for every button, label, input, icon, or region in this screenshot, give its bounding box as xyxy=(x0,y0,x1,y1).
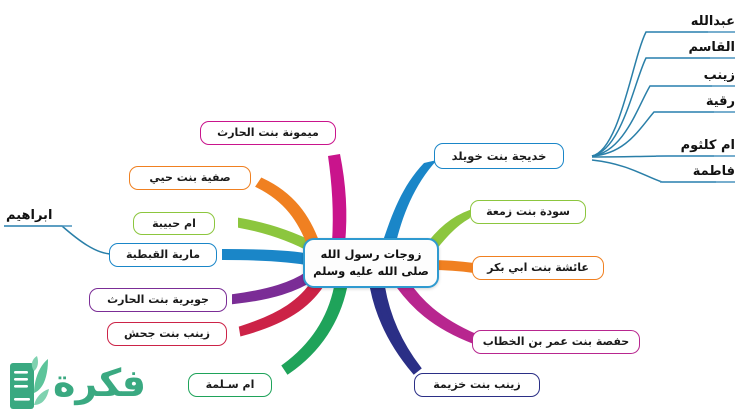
node-maria-label: مارية القبطية xyxy=(126,248,200,262)
node-juwayriya[interactable]: جويرية بنت الحارث xyxy=(89,288,227,312)
node-juwayriya-label: جويرية بنت الحارث xyxy=(107,293,209,307)
branch-ribbon-hafsa xyxy=(398,282,476,342)
node-um-salama-label: ام سـلمة xyxy=(206,378,255,392)
branch-ribbon-um-salama xyxy=(284,287,345,372)
leaf-alqasim[interactable]: القاسم xyxy=(688,40,735,56)
leaf-zainab-label: زينب xyxy=(704,68,735,83)
node-aisha-label: عائشة بنت ابي بكر xyxy=(487,261,589,275)
mindmap-canvas: زوجات رسول الله صلى الله عليه وسلم خديجة… xyxy=(0,0,739,415)
node-maria[interactable]: مارية القبطية xyxy=(109,243,217,267)
center-node-line2: صلى الله عليه وسلم xyxy=(313,263,429,280)
branch-ribbon-maria xyxy=(224,251,312,264)
leaf-fatima[interactable]: فاطمة xyxy=(693,164,735,180)
node-sawda[interactable]: سودة بنت زمعة xyxy=(470,200,586,224)
node-khadija-label: خديجة بنت خويلد xyxy=(452,149,547,163)
node-um-habiba[interactable]: ام حبيبة xyxy=(133,212,215,235)
leaf-abdullah-label: عبدالله xyxy=(691,14,735,29)
watermark-text: فكرة xyxy=(53,364,146,402)
node-hafsa[interactable]: حفصة بنت عمر بن الخطاب xyxy=(472,330,640,354)
node-hafsa-label: حفصة بنت عمر بن الخطاب xyxy=(483,335,629,349)
leaf-um-kulthum-label: ام كلثوم xyxy=(681,138,735,153)
node-safiyya[interactable]: صفية بنت حيي xyxy=(129,166,251,190)
leaf-abdullah[interactable]: عبدالله xyxy=(691,14,735,30)
node-zainab-khuzaima-label: زينب بنت خزيمة xyxy=(433,378,520,392)
leaf-ruqayya[interactable]: رقية xyxy=(706,94,735,110)
leaf-zainab[interactable]: زينب xyxy=(704,68,735,84)
watermark: فكرة xyxy=(4,353,146,413)
node-aisha[interactable]: عائشة بنت ابي بكر xyxy=(472,256,604,280)
book-leaf-logo-icon xyxy=(4,353,50,413)
node-maymuna[interactable]: ميمونة بنت الحارث xyxy=(200,121,336,145)
node-khadija[interactable]: خديجة بنت خويلد xyxy=(434,143,564,169)
branch-ribbon-khadija xyxy=(382,160,437,247)
node-maymuna-label: ميمونة بنت الحارث xyxy=(217,126,319,140)
leaf-ruqayya-label: رقية xyxy=(706,94,735,109)
leaf-ibrahim-label: ابراهيم xyxy=(6,208,52,223)
node-zainab-jahsh[interactable]: زينب بنت جحش xyxy=(107,322,227,346)
leaf-um-kulthum[interactable]: ام كلثوم xyxy=(681,138,735,154)
node-zainab-khuzaima[interactable]: زينب بنت خزيمة xyxy=(414,373,540,397)
connector-maria-ibrahim xyxy=(4,226,112,254)
node-zainab-jahsh-label: زينب بنت جحش xyxy=(124,327,210,341)
leaf-ibrahim[interactable]: ابراهيم xyxy=(6,208,52,224)
node-sawda-label: سودة بنت زمعة xyxy=(486,205,570,219)
node-um-salama[interactable]: ام سـلمة xyxy=(188,373,272,397)
center-node-line1: زوجات رسول الله xyxy=(321,246,422,263)
center-node[interactable]: زوجات رسول الله صلى الله عليه وسلم xyxy=(303,238,439,288)
leaf-fatima-label: فاطمة xyxy=(693,164,735,179)
leaf-alqasim-label: القاسم xyxy=(688,40,735,55)
node-safiyya-label: صفية بنت حيي xyxy=(149,171,230,185)
node-um-habiba-label: ام حبيبة xyxy=(152,217,196,231)
branch-ribbon-maymuna xyxy=(328,154,346,244)
